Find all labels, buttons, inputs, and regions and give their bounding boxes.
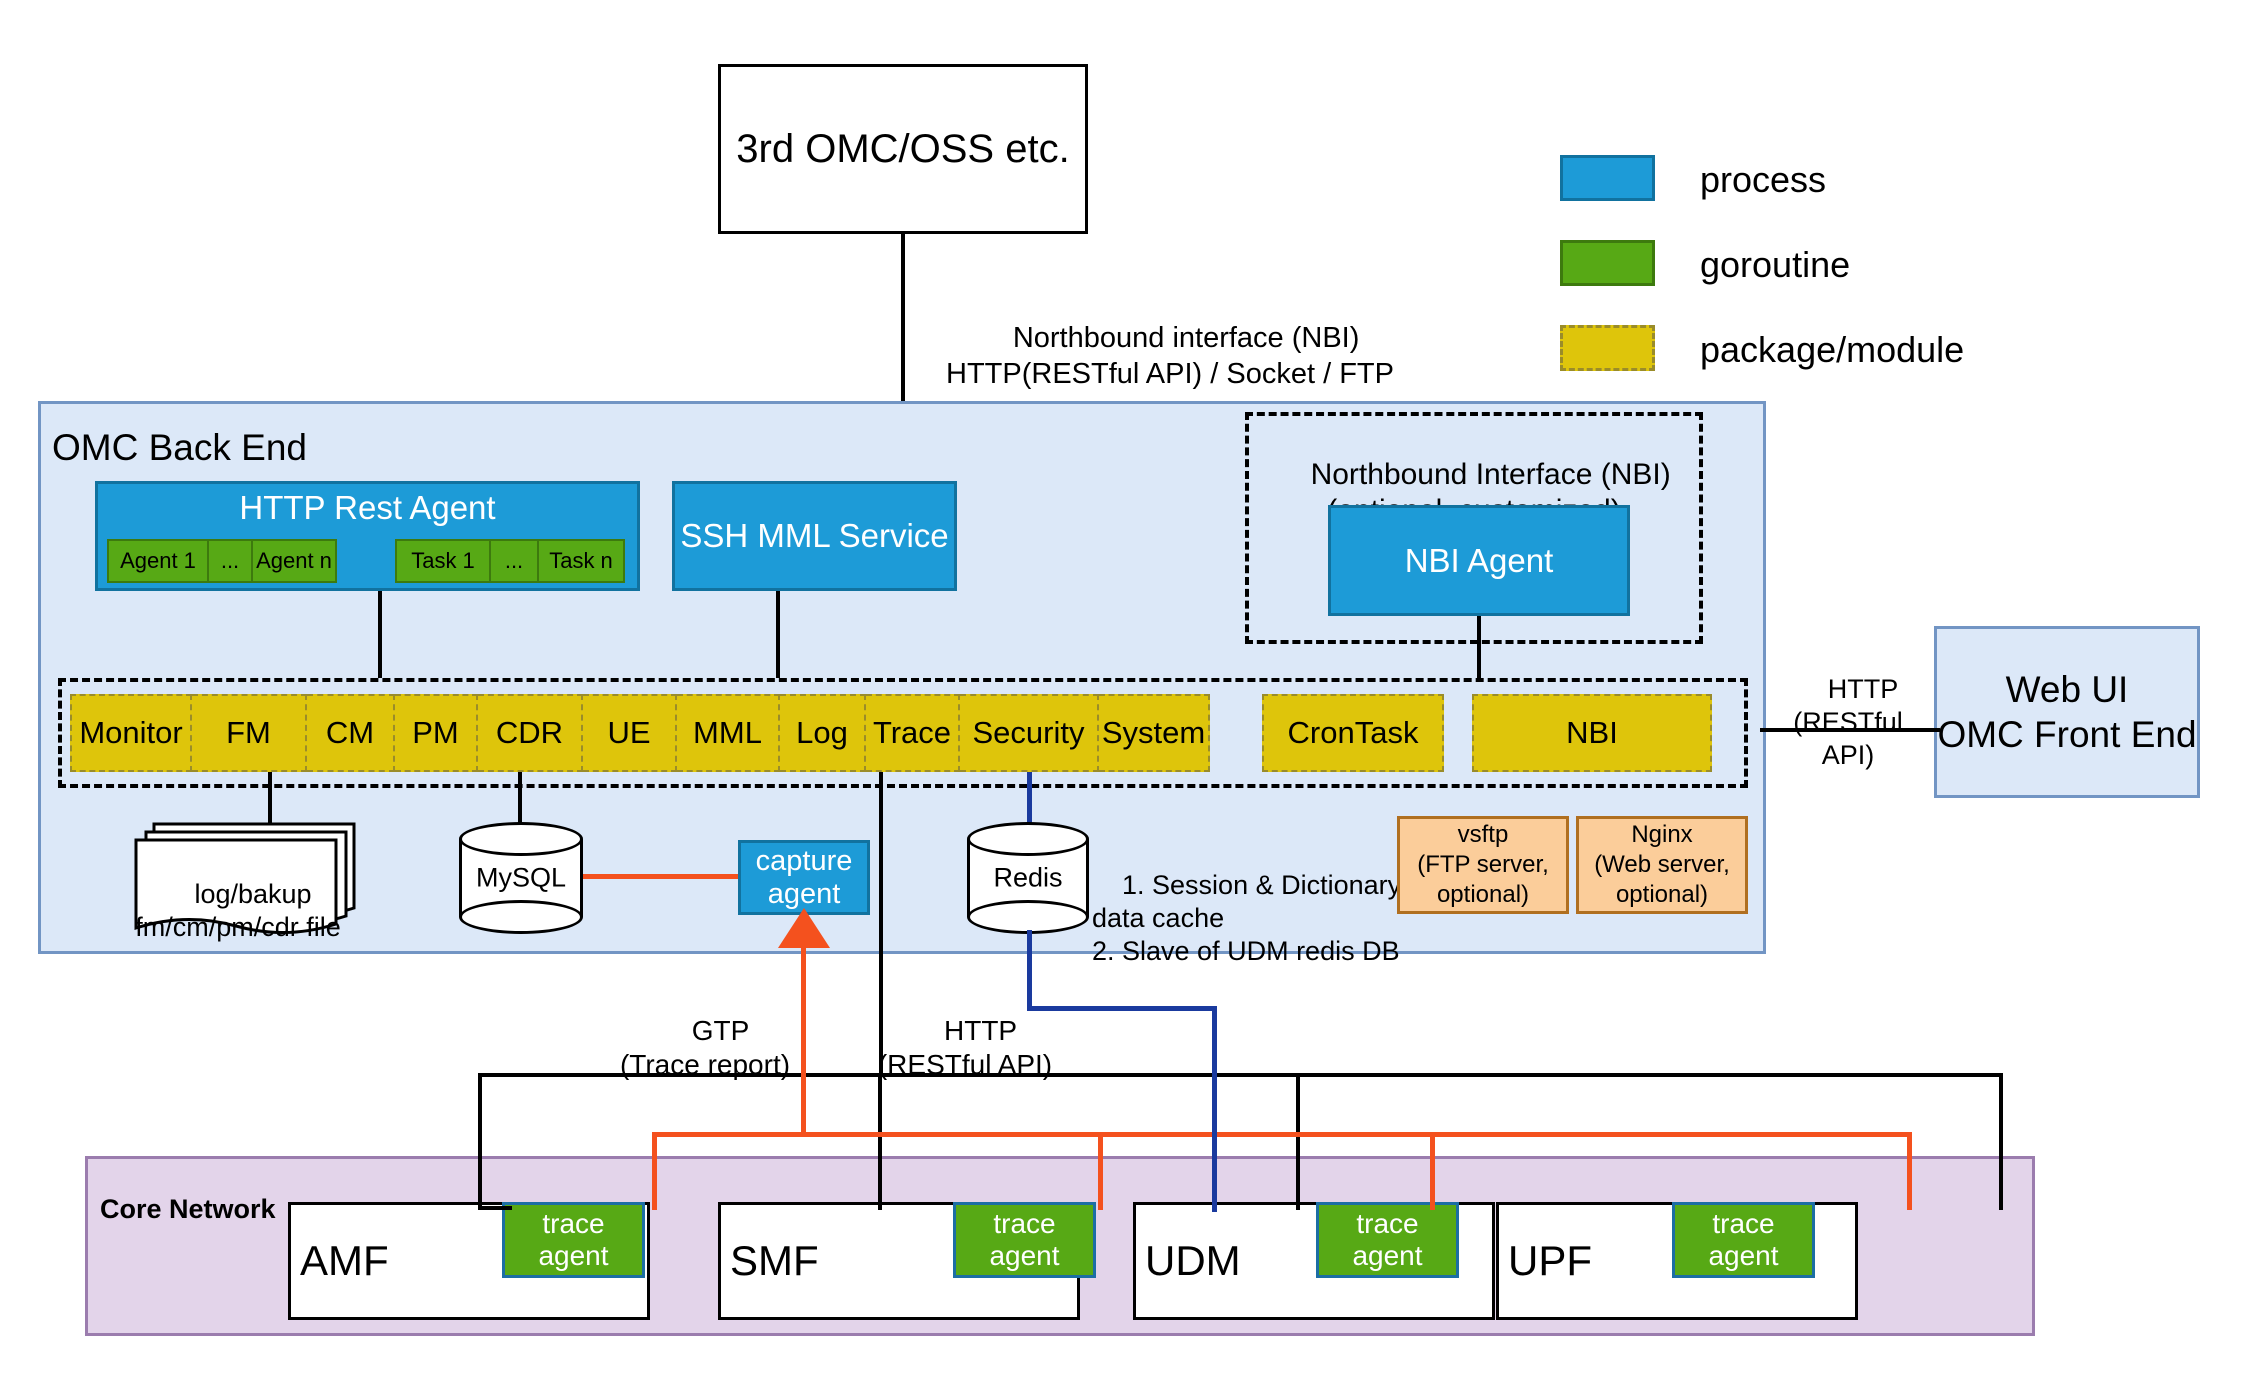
mysql-label: MySQL	[459, 863, 583, 894]
trace-agent-udm: trace agent	[1316, 1202, 1459, 1278]
omc-back-end-title: OMC Back End	[52, 425, 307, 470]
redis-cyl-bottom	[967, 900, 1089, 934]
nbi-region-title: Northbound Interface (NBI) (optional, cu…	[1245, 420, 1703, 492]
arrowhead-capture-agent-icon	[778, 908, 830, 952]
bus-orange-branch-smf	[1098, 1132, 1103, 1210]
nf-label-udm: UDM	[1145, 1235, 1241, 1286]
vsftp-box: vsftp (FTP server, optional)	[1397, 816, 1569, 914]
nf-label-amf: AMF	[300, 1235, 389, 1286]
connector-rest-agent-to-modules	[378, 591, 382, 678]
module-fm[interactable]: FM	[192, 694, 307, 772]
redis-database: Redis	[967, 822, 1089, 934]
capture-agent-box: capture agent	[738, 840, 870, 915]
bus-black-branch-amf-h	[478, 1206, 512, 1210]
goroutine-task-n: Task n	[539, 539, 625, 583]
http-rest-agent-tasks: Task 1 ... Task n	[395, 539, 625, 583]
module-monitor[interactable]: Monitor	[70, 694, 192, 772]
link-blue-to-udm	[1212, 1006, 1217, 1212]
file-stack-label: log/bakup fm/cm/pm/cdr file	[108, 845, 368, 977]
connector-nbi-agent-to-modules	[1477, 616, 1481, 678]
bus-black-branch-udm	[1296, 1073, 1300, 1210]
trace-agent-smf: trace agent	[953, 1202, 1096, 1278]
third-party-omc-oss-label: 3rd OMC/OSS etc.	[736, 127, 1069, 172]
nbi-agent-box: NBI Agent	[1328, 505, 1630, 616]
connector-mysql-to-capture-agent	[583, 874, 743, 879]
nbi-link-label: Northbound interface (NBI) HTTP(RESTful …	[910, 286, 1430, 358]
legend-swatch-package	[1560, 325, 1655, 371]
legend: process goroutine package/module	[1560, 140, 2080, 360]
goroutine-task-1: Task 1	[395, 539, 491, 583]
connector-oss-to-backend	[901, 234, 905, 404]
goroutine-agent-n: Agent n	[253, 539, 337, 583]
module-ue[interactable]: UE	[583, 694, 677, 772]
module-mml[interactable]: MML	[677, 694, 780, 772]
mysql-cyl-bottom	[459, 900, 583, 934]
module-security[interactable]: Security	[960, 694, 1099, 772]
goroutine-agent-ellipsis: ...	[209, 539, 253, 583]
bus-orange-branch-amf	[652, 1132, 657, 1210]
nf-label-smf: SMF	[730, 1235, 819, 1286]
mysql-database: MySQL	[459, 822, 583, 934]
bus-orange-horizontal	[652, 1132, 1912, 1137]
legend-swatch-process	[1560, 155, 1655, 201]
trace-agent-upf: trace agent	[1672, 1202, 1815, 1278]
link-blue-horizontal	[1027, 1006, 1217, 1011]
module-pm[interactable]: PM	[395, 694, 478, 772]
redis-notes: 1. Session & Dictionary data cache 2. Sl…	[1092, 836, 1422, 1001]
trace-agent-amf: trace agent	[502, 1202, 645, 1278]
bus-black-branch-smf	[878, 1073, 882, 1210]
gtp-link-label: GTP (Trace report)	[600, 980, 810, 1117]
goroutine-task-ellipsis: ...	[491, 539, 539, 583]
mysql-cyl-top	[459, 822, 583, 856]
bus-black-branch-upf	[1999, 1073, 2003, 1210]
module-system[interactable]: System	[1099, 694, 1210, 772]
bus-black-horizontal	[478, 1073, 2003, 1077]
bus-orange-to-capture	[801, 940, 806, 1134]
ssh-mml-service-box: SSH MML Service	[672, 481, 957, 591]
diagram-canvas: 3rd OMC/OSS etc. Northbound interface (N…	[0, 0, 2250, 1395]
module-nbi[interactable]: NBI	[1472, 694, 1712, 772]
bus-orange-branch-upf	[1907, 1132, 1912, 1210]
connector-ssh-mml-to-modules	[776, 591, 780, 678]
legend-swatch-goroutine	[1560, 240, 1655, 286]
third-party-omc-oss-box: 3rd OMC/OSS etc.	[718, 64, 1088, 234]
module-cm[interactable]: CM	[307, 694, 395, 772]
nbi-agent-label: NBI Agent	[1405, 542, 1554, 580]
http-link-label: HTTP (RESTful API)	[855, 980, 1075, 1117]
module-log[interactable]: Log	[780, 694, 866, 772]
frontend-link-label: HTTP (RESTful API)	[1768, 640, 1928, 805]
core-network-title: Core Network	[100, 1193, 276, 1226]
module-trace[interactable]: Trace	[866, 694, 960, 772]
http-rest-agent-title: HTTP Rest Agent	[95, 487, 640, 529]
legend-label-package: package/module	[1700, 328, 1964, 372]
nginx-box: Nginx (Web server, optional)	[1576, 816, 1748, 914]
legend-label-process: process	[1700, 158, 1826, 202]
ssh-mml-service-label: SSH MML Service	[680, 517, 948, 555]
http-rest-agent-goroutines: Agent 1 ... Agent n	[107, 539, 337, 583]
module-bar-left-group: Monitor FM CM PM CDR UE MML Log Trace Se…	[70, 694, 1210, 772]
goroutine-agent-1: Agent 1	[107, 539, 209, 583]
redis-label: Redis	[967, 863, 1089, 894]
module-cdr[interactable]: CDR	[478, 694, 583, 772]
module-crontask[interactable]: CronTask	[1262, 694, 1444, 772]
bus-black-branch-amf	[478, 1073, 482, 1210]
redis-cyl-top	[967, 822, 1089, 856]
web-ui-front-end-label: Web UI OMC Front End	[1937, 667, 2196, 757]
nf-label-upf: UPF	[1508, 1235, 1592, 1286]
bus-black-drop-left	[879, 772, 883, 1077]
link-blue-redis-drop	[1027, 930, 1032, 1010]
web-ui-front-end-box: Web UI OMC Front End	[1934, 626, 2200, 798]
legend-label-goroutine: goroutine	[1700, 243, 1850, 287]
bus-orange-branch-udm	[1430, 1132, 1435, 1210]
